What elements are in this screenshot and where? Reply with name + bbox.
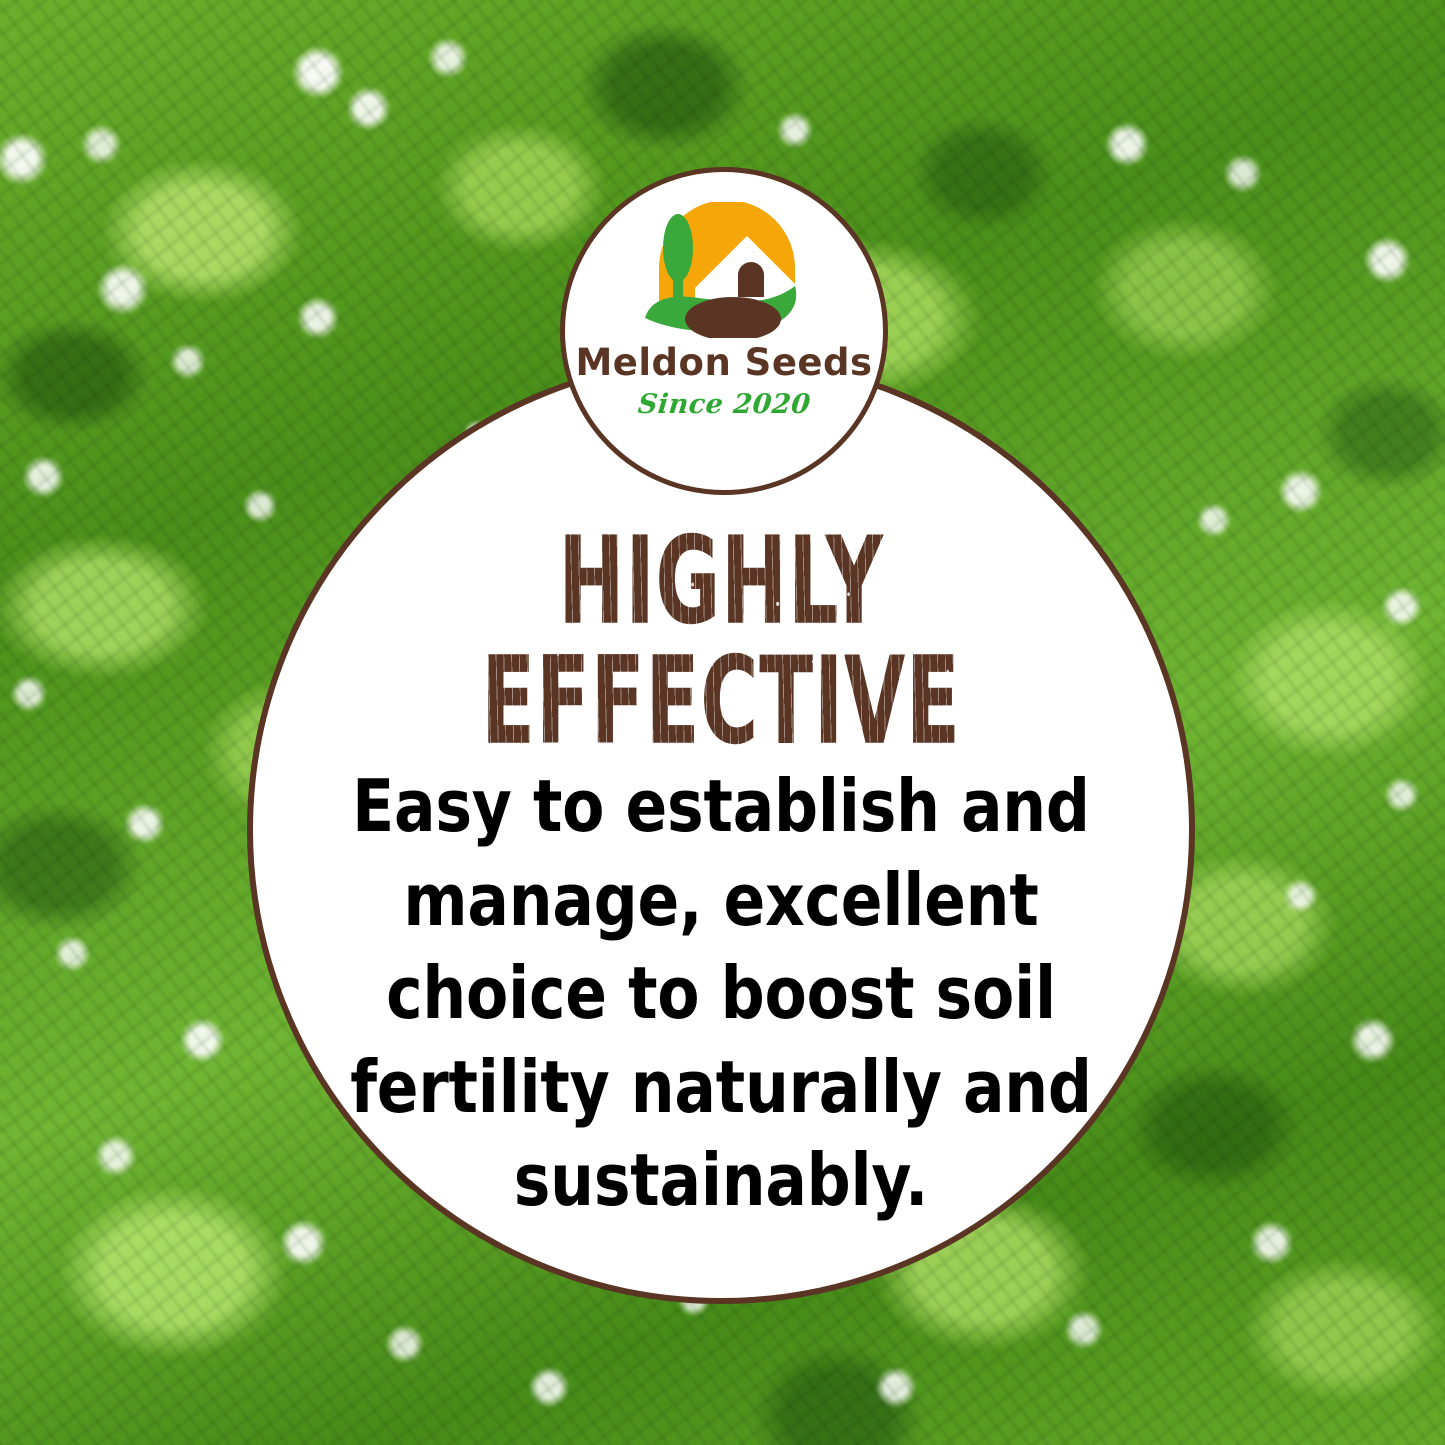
farmhouse-sun-leaf-soil-icon <box>629 202 819 338</box>
brand-logo-badge: Meldon Seeds Since 2020 <box>560 167 888 495</box>
promo-card: HIGHLY EFFECTIVE Easy to establish and m… <box>0 0 1445 1445</box>
page-title: HIGHLY EFFECTIVE <box>367 522 1076 763</box>
message-circle-panel: HIGHLY EFFECTIVE Easy to establish and m… <box>247 356 1195 1304</box>
brand-name: Meldon Seeds <box>575 344 872 381</box>
body-description: Easy to establish and manage, excellent … <box>330 760 1113 1228</box>
message-circle-content: HIGHLY EFFECTIVE Easy to establish and m… <box>253 522 1189 1228</box>
brand-tagline: Since 2020 <box>636 391 811 418</box>
headline-grunge-texture <box>367 522 1076 763</box>
